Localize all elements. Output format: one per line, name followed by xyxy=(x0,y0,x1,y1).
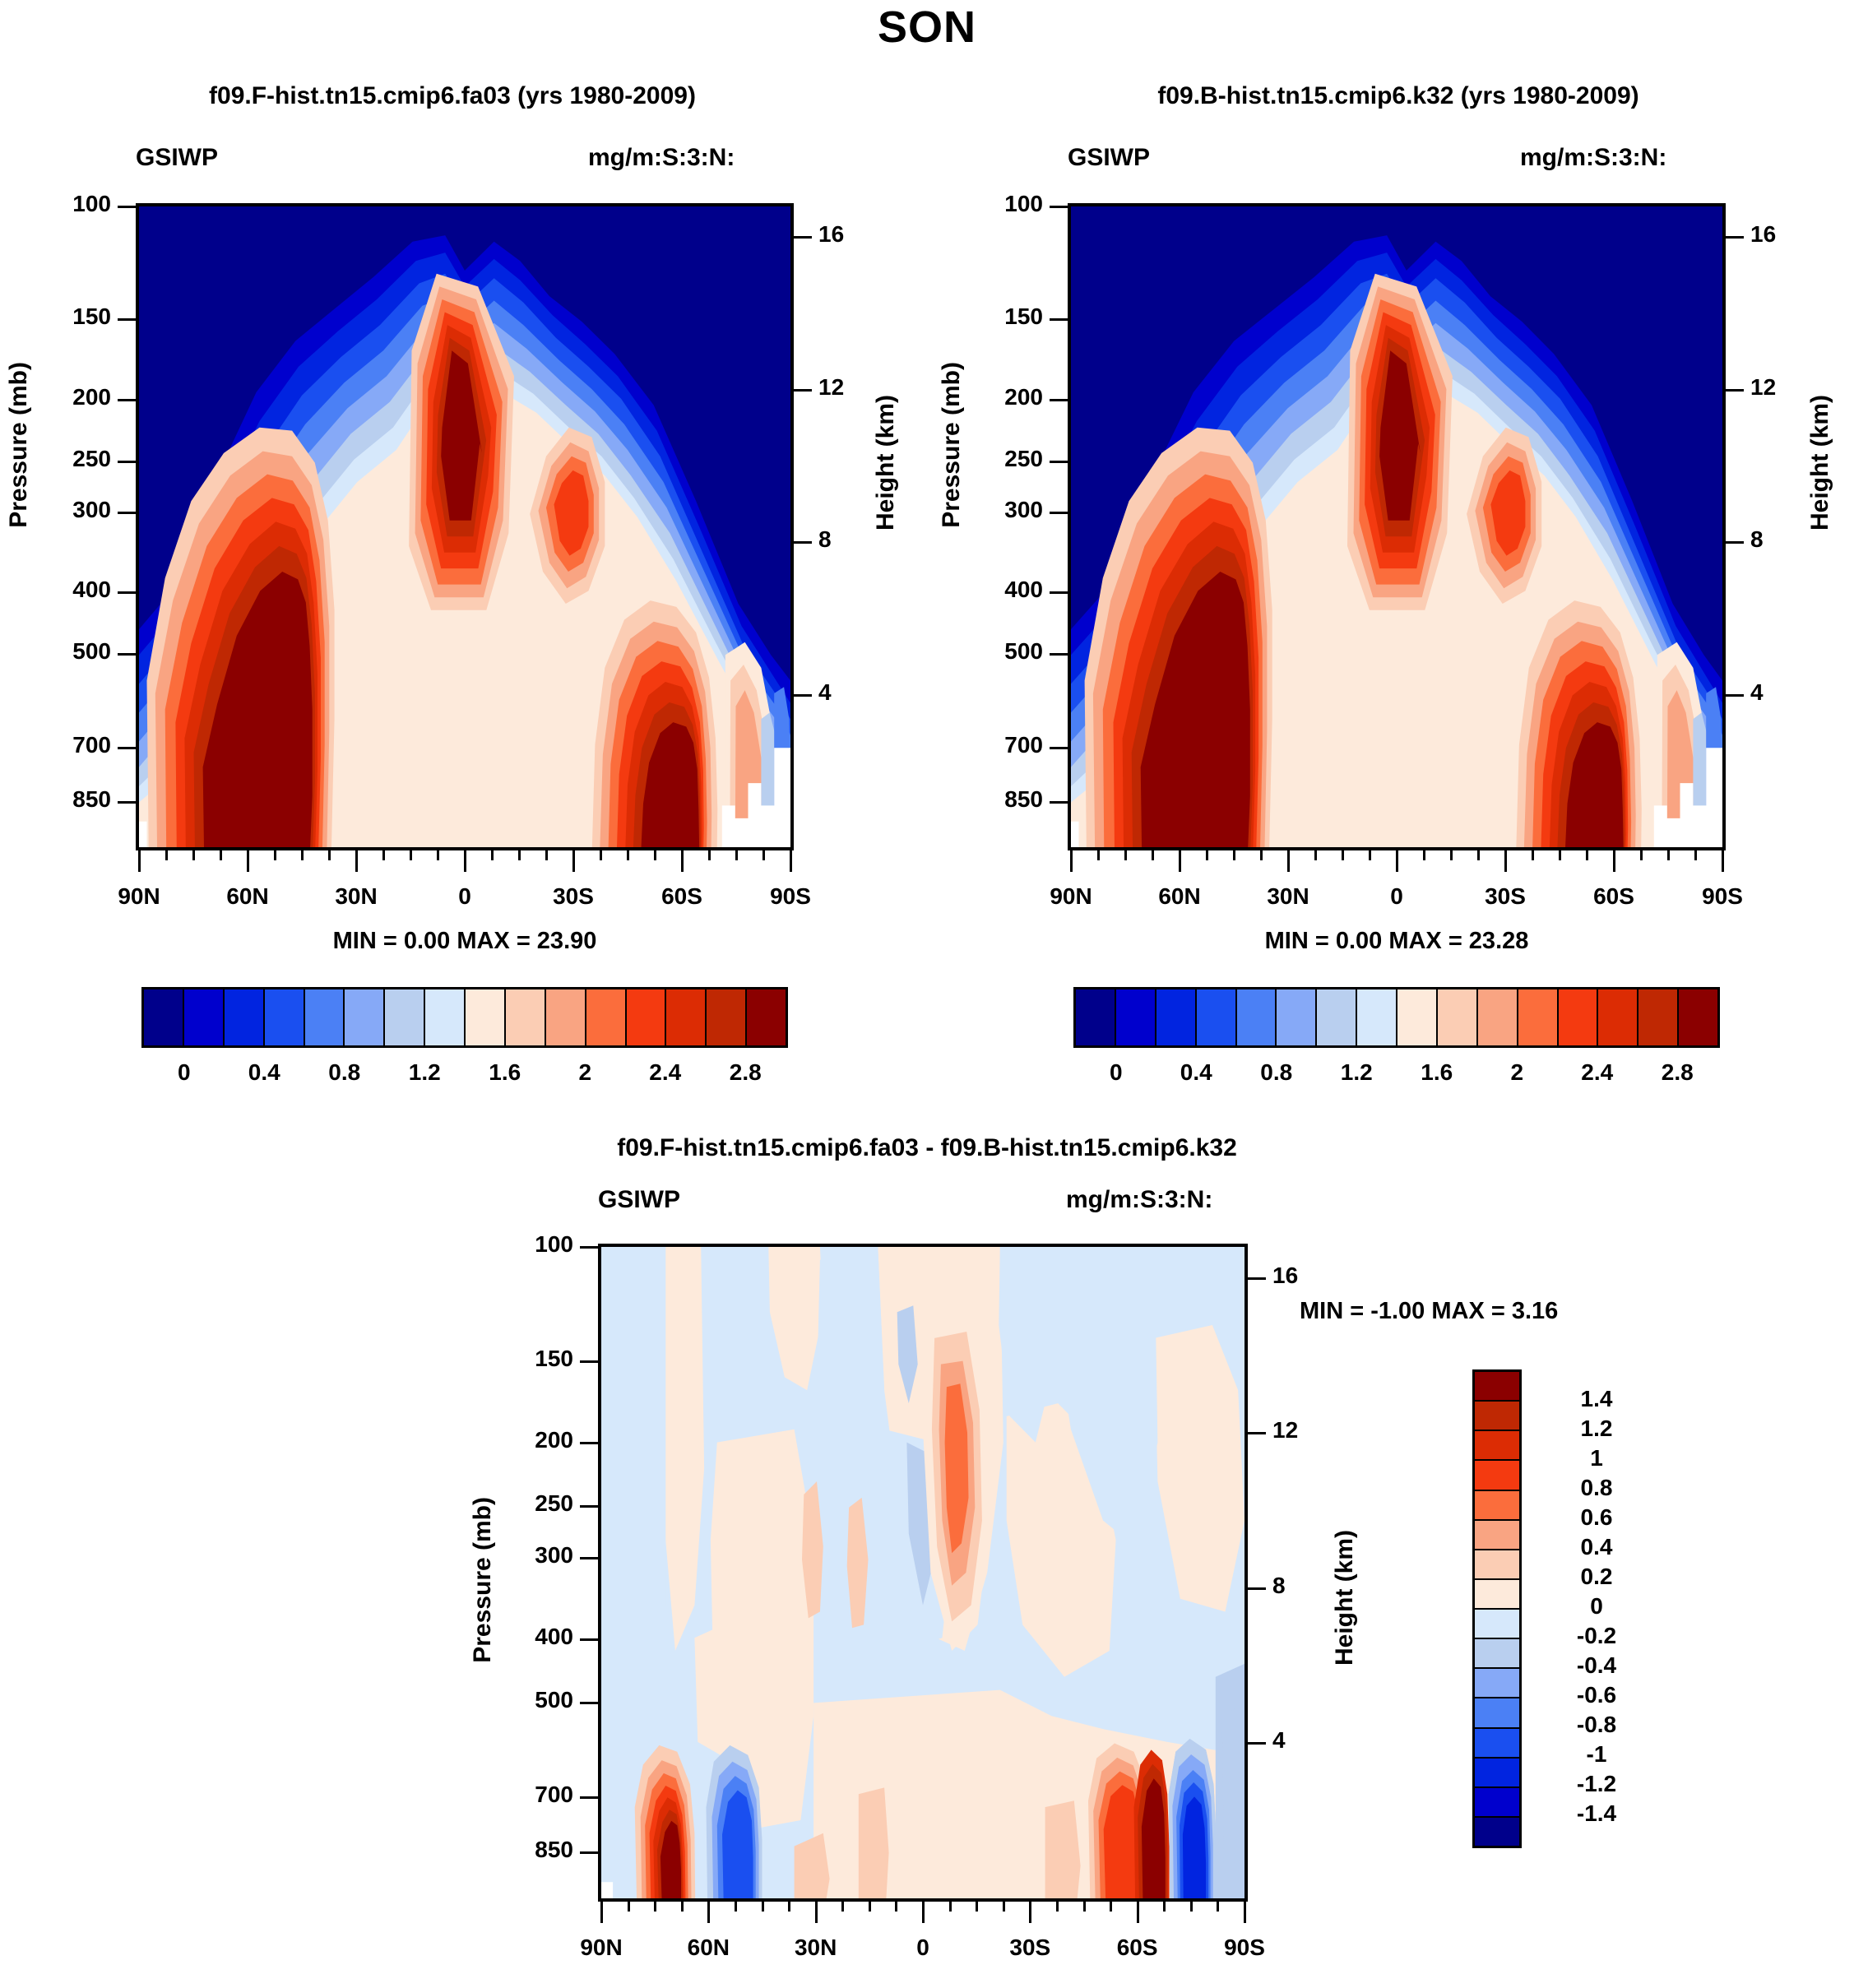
x-axis-minor-tick xyxy=(1369,847,1371,860)
y-axis-tick-label: 400 xyxy=(7,577,111,603)
colorbar-swatch[interactable] xyxy=(144,989,184,1045)
x-axis-tick xyxy=(707,1898,710,1923)
y2-axis-tick-label: 16 xyxy=(1272,1263,1322,1289)
y-axis-tick-label: 850 xyxy=(7,786,111,813)
colorbar-tick-label: 1.6 xyxy=(1404,1059,1470,1086)
panel-var-label-right: GSIWP xyxy=(1068,144,1150,172)
y-axis-tick-label: 850 xyxy=(470,1837,573,1863)
minmax-right: MIN = 0.00 MAX = 23.28 xyxy=(1068,928,1726,955)
y-axis-tick-label: 300 xyxy=(939,497,1043,523)
y2-axis-tick xyxy=(790,541,812,544)
y-axis-tick xyxy=(580,1796,601,1799)
colorbar-swatch[interactable] xyxy=(345,989,385,1045)
x-axis-tick xyxy=(138,847,141,872)
colorbar-swatch[interactable] xyxy=(586,989,627,1045)
colorbar-swatch[interactable] xyxy=(425,989,466,1045)
y2-axis-tick xyxy=(1722,389,1744,392)
y-axis-tick xyxy=(1050,206,1071,208)
colorbar-swatch[interactable] xyxy=(1475,1788,1519,1818)
y-axis-tick-label: 500 xyxy=(7,638,111,665)
x-axis-tick xyxy=(1137,1898,1139,1923)
y2-axis-tick xyxy=(1722,236,1744,239)
x-axis-minor-tick xyxy=(437,847,439,860)
y2-axis-tick xyxy=(1244,1432,1266,1434)
y2-axis-tick xyxy=(790,694,812,697)
colorbar-swatch[interactable] xyxy=(466,989,506,1045)
x-axis-tick-label: 30N xyxy=(299,883,414,910)
x-axis-tick xyxy=(1613,847,1615,872)
x-axis-tick-label: 30S xyxy=(972,1935,1087,1961)
x-axis-tick xyxy=(681,847,684,872)
x-axis-tick-label: 60S xyxy=(624,883,739,910)
colorbar-tick-label: 0.8 xyxy=(312,1059,378,1086)
x-axis-tick-label: 90S xyxy=(1665,883,1780,910)
y2-axis-tick-label: 12 xyxy=(1272,1417,1322,1444)
y-axis-tick-label: 150 xyxy=(939,304,1043,330)
colorbar-swatch[interactable] xyxy=(1475,1698,1519,1728)
x-axis-tick xyxy=(355,847,358,872)
x-axis-tick xyxy=(1722,847,1724,872)
y-axis-tick xyxy=(1050,591,1071,594)
y-axis-tick xyxy=(1050,399,1071,401)
y-axis-tick-label: 300 xyxy=(7,497,111,523)
colorbar-swatch[interactable] xyxy=(1475,1580,1519,1610)
x-axis-minor-tick xyxy=(1423,847,1425,860)
x-axis-tick-label: 0 xyxy=(865,1935,980,1961)
colorbar-swatch[interactable] xyxy=(1475,1610,1519,1639)
colorbar-swatch[interactable] xyxy=(506,989,546,1045)
x-axis-tick-label: 30N xyxy=(758,1935,874,1961)
colorbar-swatch[interactable] xyxy=(1475,1759,1519,1788)
y-axis-tick xyxy=(580,1557,601,1559)
colorbar-tick-label: 0 xyxy=(1083,1059,1149,1086)
colorbar-swatch[interactable] xyxy=(1156,989,1197,1045)
colorbar-tick-label: 2.8 xyxy=(1644,1059,1710,1086)
y-axis-tick xyxy=(580,1638,601,1641)
colorbar-swatch[interactable] xyxy=(707,989,747,1045)
colorbar-swatch[interactable] xyxy=(1475,1729,1519,1759)
figure-super-title: SON xyxy=(0,2,1854,53)
x-axis-minor-tick xyxy=(1314,847,1317,860)
x-axis-minor-tick xyxy=(1097,847,1100,860)
x-axis-minor-tick xyxy=(788,1898,790,1912)
y-axis-tick-label: 500 xyxy=(939,638,1043,665)
minmax-diff: MIN = -1.00 MAX = 3.16 xyxy=(1300,1298,1558,1325)
x-axis-minor-tick xyxy=(841,1898,844,1912)
colorbar-swatch[interactable] xyxy=(1475,1402,1519,1431)
panel-units-label-diff: mg/m:S:3:N: xyxy=(1066,1186,1212,1214)
x-axis-minor-tick xyxy=(1206,847,1208,860)
colorbar-swatch[interactable] xyxy=(1518,989,1559,1045)
colorbar-swatch[interactable] xyxy=(1598,989,1638,1045)
colorbar-swatch[interactable] xyxy=(546,989,586,1045)
y-axis-tick xyxy=(1050,512,1071,514)
y-axis-tick-label: 700 xyxy=(7,732,111,758)
x-axis-minor-tick xyxy=(1233,847,1235,860)
x-axis-minor-tick xyxy=(949,1898,952,1912)
panel-var-label-diff: GSIWP xyxy=(598,1186,680,1214)
y2-axis-tick xyxy=(790,236,812,239)
x-axis-tick xyxy=(1396,847,1398,872)
x-axis-tick-label: 90N xyxy=(544,1935,659,1961)
colorbar-tick-label: 0.4 xyxy=(231,1059,297,1086)
colorbar-tick-label: 2 xyxy=(552,1059,618,1086)
colorbar-tick-label: 0 xyxy=(151,1059,217,1086)
colorbar-tick-label: 2.8 xyxy=(712,1059,778,1086)
x-axis-minor-tick xyxy=(1083,1898,1086,1912)
x-axis-minor-tick xyxy=(328,847,331,860)
x-axis-minor-tick xyxy=(1694,847,1697,860)
colorbar-swatch[interactable] xyxy=(184,989,225,1045)
x-axis-minor-tick xyxy=(654,1898,656,1912)
y-axis-tick xyxy=(118,512,139,514)
colorbar-swatch[interactable] xyxy=(1679,989,1717,1045)
colorbar-tick-label: 0.4 xyxy=(1543,1534,1650,1560)
colorbar-tick-label: 0 xyxy=(1543,1593,1650,1620)
y-axis-tick-label: 250 xyxy=(7,446,111,472)
colorbar-swatch[interactable] xyxy=(666,989,707,1045)
x-axis-tick xyxy=(1287,847,1290,872)
x-axis-tick-label: 0 xyxy=(1339,883,1454,910)
x-axis-minor-tick xyxy=(708,847,711,860)
colorbar-tick-label: -1 xyxy=(1543,1741,1650,1768)
colorbar-swatch[interactable] xyxy=(1116,989,1156,1045)
y-axis-tick xyxy=(580,1360,601,1363)
y-axis-tick xyxy=(118,461,139,463)
x-axis-tick-label: 30N xyxy=(1231,883,1346,910)
x-axis-tick xyxy=(1179,847,1181,872)
y-axis-tick-label: 500 xyxy=(470,1687,573,1713)
y-axis-tick xyxy=(580,1702,601,1704)
x-axis-minor-tick xyxy=(274,847,276,860)
colorbar-tick-label: 1.2 xyxy=(1543,1416,1650,1442)
colorbar-swatch[interactable] xyxy=(1475,1639,1519,1669)
x-axis-minor-tick xyxy=(628,1898,630,1912)
colorbar-left[interactable] xyxy=(141,987,788,1048)
x-axis-minor-tick xyxy=(1450,847,1453,860)
x-axis-minor-tick xyxy=(491,847,494,860)
x-axis-minor-tick xyxy=(1640,847,1643,860)
y2-axis-tick-label: 16 xyxy=(1750,221,1800,248)
panel-units-label-left: mg/m:S:3:N: xyxy=(588,144,735,172)
panel-title-diff: f09.F-hist.tn15.cmip6.fa03 - f09.B-hist.… xyxy=(433,1134,1421,1162)
panel-units-label-right: mg/m:S:3:N: xyxy=(1520,144,1666,172)
y-axis-tick xyxy=(1050,801,1071,804)
x-axis-tick-label: 60N xyxy=(1122,883,1237,910)
contour-plot-right[interactable] xyxy=(1068,203,1726,850)
x-axis-tick-label: 60N xyxy=(651,1935,766,1961)
colorbar-swatch[interactable] xyxy=(305,989,345,1045)
y2-axis-tick-label: 16 xyxy=(818,221,868,248)
panel-title-left: f09.F-hist.tn15.cmip6.fa03 (yrs 1980-200… xyxy=(16,82,888,110)
x-axis-minor-tick xyxy=(1163,1898,1166,1912)
x-axis-tick xyxy=(790,847,792,872)
x-axis-minor-tick xyxy=(382,847,385,860)
y-axis-tick xyxy=(580,1505,601,1508)
x-axis-tick xyxy=(1244,1898,1246,1923)
colorbar-swatch[interactable] xyxy=(1277,989,1317,1045)
panel-var-label-left: GSIWP xyxy=(136,144,218,172)
x-axis-tick xyxy=(1070,847,1073,872)
x-axis-minor-tick xyxy=(600,847,602,860)
x-axis-minor-tick xyxy=(976,1898,978,1912)
x-axis-tick-label: 0 xyxy=(407,883,522,910)
x-axis-minor-tick xyxy=(220,847,222,860)
y-axis-tick xyxy=(118,747,139,749)
panel-title-right: f09.B-hist.tn15.cmip6.k32 (yrs 1980-2009… xyxy=(962,82,1834,110)
x-axis-minor-tick xyxy=(1190,1898,1193,1912)
x-axis-minor-tick xyxy=(192,847,195,860)
y-axis-tick-label: 100 xyxy=(939,191,1043,217)
contour-plot-left[interactable] xyxy=(136,203,794,850)
y-axis-tick xyxy=(1050,461,1071,463)
x-axis-tick-label: 60S xyxy=(1080,1935,1195,1961)
colorbar-swatch[interactable] xyxy=(1475,1550,1519,1580)
x-axis-minor-tick xyxy=(1559,847,1561,860)
x-axis-tick xyxy=(464,847,466,872)
x-axis-tick xyxy=(922,1898,925,1923)
y2-axis-tick-label: 12 xyxy=(1750,374,1800,401)
x-axis-minor-tick xyxy=(654,847,656,860)
colorbar-tick-label: 2.4 xyxy=(1564,1059,1630,1086)
y2-axis-tick-label: 4 xyxy=(1750,679,1800,706)
y2-axis-tick xyxy=(1244,1587,1266,1590)
colorbar-swatch[interactable] xyxy=(1475,1521,1519,1550)
colorbar-tick-label: 0.8 xyxy=(1543,1475,1650,1501)
x-axis-minor-tick xyxy=(762,847,765,860)
colorbar-swatch[interactable] xyxy=(1475,1431,1519,1461)
y2-axis-title-diff: Height (km) xyxy=(1331,1530,1359,1666)
colorbar-swatch[interactable] xyxy=(627,989,667,1045)
x-axis-tick-label: 60N xyxy=(190,883,305,910)
x-axis-minor-tick xyxy=(627,847,629,860)
colorbar-swatch[interactable] xyxy=(1638,989,1679,1045)
y-axis-tick-label: 150 xyxy=(7,304,111,330)
colorbar-tick-label: -0.8 xyxy=(1543,1712,1650,1738)
colorbar-tick-label: 2.4 xyxy=(633,1059,698,1086)
x-axis-minor-tick xyxy=(1110,1898,1112,1912)
colorbar-tick-label: 1.4 xyxy=(1543,1386,1650,1412)
colorbar-tick-label: 1 xyxy=(1543,1445,1650,1471)
y2-axis-tick-label: 8 xyxy=(1272,1573,1322,1599)
y-axis-tick-label: 400 xyxy=(470,1624,573,1650)
x-axis-tick-label: 60S xyxy=(1556,883,1671,910)
colorbar-swatch[interactable] xyxy=(1475,1818,1519,1846)
x-axis-minor-tick xyxy=(518,847,521,860)
colorbar-swatch[interactable] xyxy=(1237,989,1277,1045)
contour-plot-diff[interactable] xyxy=(598,1244,1248,1902)
colorbar-swatch[interactable] xyxy=(1438,989,1478,1045)
colorbar-right[interactable] xyxy=(1073,987,1720,1048)
x-axis-minor-tick xyxy=(1477,847,1480,860)
x-axis-minor-tick xyxy=(1342,847,1344,860)
minmax-left: MIN = 0.00 MAX = 23.90 xyxy=(136,928,794,955)
y2-axis-title-left: Height (km) xyxy=(872,395,900,531)
x-axis-tick-label: 30S xyxy=(516,883,631,910)
x-axis-minor-tick xyxy=(735,847,738,860)
colorbar-tick-label: 0.2 xyxy=(1543,1564,1650,1590)
colorbar-tick-label: -1.2 xyxy=(1543,1771,1650,1797)
y2-axis-tick-label: 4 xyxy=(1272,1727,1322,1754)
x-axis-minor-tick xyxy=(1124,847,1127,860)
colorbar-swatch[interactable] xyxy=(1475,1372,1519,1402)
y-axis-tick-label: 700 xyxy=(939,732,1043,758)
x-axis-minor-tick xyxy=(1667,847,1670,860)
y-axis-tick-label: 200 xyxy=(7,384,111,410)
colorbar-swatch[interactable] xyxy=(1317,989,1357,1045)
colorbar-tick-label: 0.4 xyxy=(1163,1059,1229,1086)
y-axis-tick-label: 100 xyxy=(470,1231,573,1258)
x-axis-tick xyxy=(1504,847,1507,872)
colorbar-tick-label: 1.2 xyxy=(392,1059,457,1086)
y-axis-tick xyxy=(118,318,139,321)
colorbar-tick-label: -1.4 xyxy=(1543,1800,1650,1827)
colorbar-swatch[interactable] xyxy=(1475,1461,1519,1490)
x-axis-minor-tick xyxy=(1152,847,1154,860)
x-axis-tick xyxy=(247,847,249,872)
y-axis-tick xyxy=(118,801,139,804)
colorbar-swatch[interactable] xyxy=(1197,989,1237,1045)
y2-axis-tick xyxy=(1722,541,1744,544)
colorbar-swatch[interactable] xyxy=(225,989,265,1045)
colorbar-swatch[interactable] xyxy=(1397,989,1438,1045)
x-axis-minor-tick xyxy=(869,1898,871,1912)
x-axis-minor-tick xyxy=(1056,1898,1059,1912)
colorbar-diff[interactable] xyxy=(1472,1369,1522,1848)
colorbar-tick-label: 1.6 xyxy=(472,1059,538,1086)
colorbar-tick-label: 0.8 xyxy=(1244,1059,1309,1086)
x-axis-tick xyxy=(1029,1898,1031,1923)
y-axis-tick xyxy=(118,206,139,208)
x-axis-minor-tick xyxy=(1003,1898,1005,1912)
x-axis-minor-tick xyxy=(545,847,548,860)
y2-axis-tick-label: 8 xyxy=(1750,526,1800,553)
x-axis-tick xyxy=(572,847,575,872)
x-axis-tick-label: 90N xyxy=(81,883,197,910)
colorbar-tick-label: 2 xyxy=(1484,1059,1550,1086)
y-axis-tick-label: 200 xyxy=(470,1427,573,1453)
colorbar-swatch[interactable] xyxy=(1559,989,1599,1045)
y-axis-tick xyxy=(1050,653,1071,656)
y-axis-tick-label: 200 xyxy=(939,384,1043,410)
colorbar-tick-label: -0.6 xyxy=(1543,1682,1650,1708)
x-axis-minor-tick xyxy=(681,1898,684,1912)
y-axis-tick-label: 850 xyxy=(939,786,1043,813)
y2-axis-tick-label: 8 xyxy=(818,526,868,553)
x-axis-tick xyxy=(815,1898,818,1923)
x-axis-minor-tick xyxy=(1586,847,1588,860)
colorbar-swatch[interactable] xyxy=(1357,989,1397,1045)
y-axis-tick-label: 250 xyxy=(939,446,1043,472)
colorbar-swatch[interactable] xyxy=(1475,1669,1519,1698)
colorbar-swatch[interactable] xyxy=(385,989,425,1045)
x-axis-minor-tick xyxy=(762,1898,764,1912)
y-axis-tick xyxy=(580,1246,601,1249)
y-axis-tick xyxy=(580,1851,601,1854)
x-axis-minor-tick xyxy=(1260,847,1263,860)
x-axis-tick xyxy=(600,1898,603,1923)
y-axis-tick-label: 700 xyxy=(470,1782,573,1808)
x-axis-tick-label: 90N xyxy=(1013,883,1129,910)
colorbar-tick-label: 0.6 xyxy=(1543,1504,1650,1531)
colorbar-swatch[interactable] xyxy=(1076,989,1116,1045)
y-axis-tick-label: 100 xyxy=(7,191,111,217)
y2-axis-tick xyxy=(1244,1742,1266,1745)
y2-axis-tick-label: 4 xyxy=(818,679,868,706)
x-axis-tick-label: 90S xyxy=(733,883,848,910)
y-axis-tick xyxy=(118,591,139,594)
x-axis-minor-tick xyxy=(301,847,304,860)
x-axis-minor-tick xyxy=(735,1898,737,1912)
y-axis-tick xyxy=(1050,318,1071,321)
y-axis-tick xyxy=(1050,747,1071,749)
y2-axis-tick xyxy=(1244,1277,1266,1280)
y-axis-tick xyxy=(118,399,139,401)
x-axis-minor-tick xyxy=(895,1898,897,1912)
x-axis-minor-tick xyxy=(410,847,412,860)
y2-axis-tick-label: 12 xyxy=(818,374,868,401)
colorbar-tick-label: -0.4 xyxy=(1543,1652,1650,1679)
x-axis-minor-tick xyxy=(165,847,168,860)
colorbar-swatch[interactable] xyxy=(747,989,786,1045)
y-axis-tick-label: 400 xyxy=(939,577,1043,603)
colorbar-swatch[interactable] xyxy=(1475,1491,1519,1521)
x-axis-minor-tick xyxy=(1217,1898,1219,1912)
x-axis-tick-label: 30S xyxy=(1448,883,1563,910)
y2-axis-title-right: Height (km) xyxy=(1806,395,1834,531)
colorbar-tick-label: -0.2 xyxy=(1543,1623,1650,1649)
x-axis-minor-tick xyxy=(1532,847,1534,860)
y-axis-tick-label: 250 xyxy=(470,1490,573,1517)
colorbar-swatch[interactable] xyxy=(1478,989,1518,1045)
y-axis-tick-label: 150 xyxy=(470,1346,573,1372)
y-axis-tick xyxy=(580,1442,601,1444)
colorbar-tick-label: 1.2 xyxy=(1323,1059,1389,1086)
colorbar-swatch[interactable] xyxy=(265,989,305,1045)
y2-axis-tick xyxy=(790,389,812,392)
x-axis-tick-label: 90S xyxy=(1187,1935,1302,1961)
y-axis-tick-label: 300 xyxy=(470,1542,573,1569)
y2-axis-tick xyxy=(1722,694,1744,697)
y-axis-tick xyxy=(118,653,139,656)
